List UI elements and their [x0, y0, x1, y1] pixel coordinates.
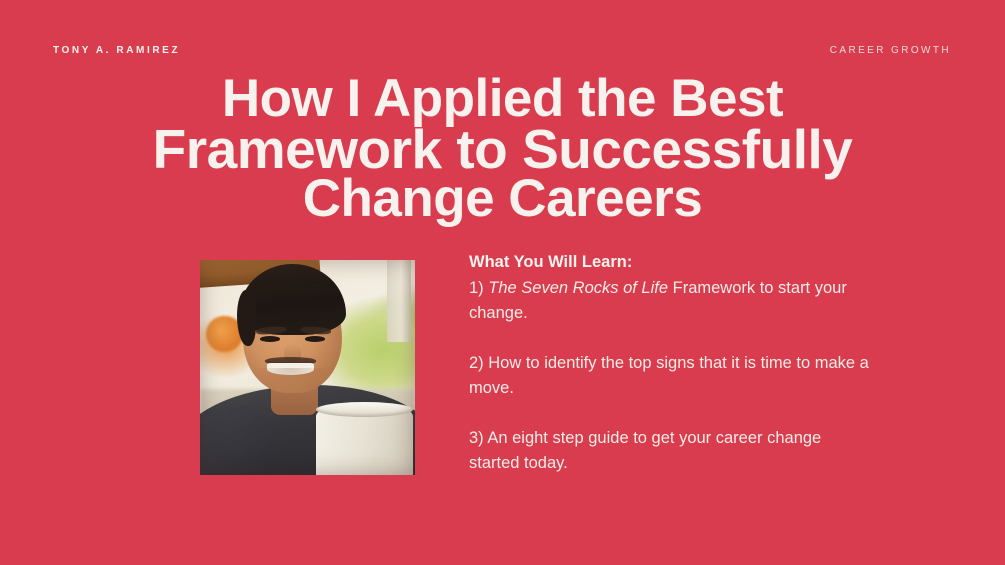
- author-label: TONY A. RAMIREZ: [53, 45, 180, 57]
- copy-spacer-1: [469, 327, 869, 351]
- photo-eye-right: [305, 336, 324, 342]
- slide-canvas: TONY A. RAMIREZ CAREER GROWTH How I Appl…: [0, 0, 1005, 565]
- photo-mug-rim: [316, 402, 413, 417]
- photo-chin-shadow: [252, 368, 329, 394]
- copy-spacer-2: [469, 402, 869, 426]
- photo-shoulder: [200, 406, 273, 475]
- title-line-2: Framework to Successfully: [80, 124, 925, 174]
- page-title: How I Applied the Best Framework to Succ…: [0, 74, 1005, 224]
- photo-image: [200, 260, 415, 475]
- learning-item-1: 1) The Seven Rocks of Life Framework to …: [469, 276, 869, 327]
- photo-eye-left: [260, 336, 279, 342]
- learning-points: What You Will Learn: 1) The Seven Rocks …: [469, 250, 869, 477]
- learning-item-2: 2) How to identify the top signs that it…: [469, 351, 869, 402]
- speaker-photo: [200, 260, 415, 475]
- item-1-prefix: 1): [469, 279, 488, 297]
- category-label: CAREER GROWTH: [830, 45, 951, 57]
- item-1-title: The Seven Rocks of Life: [488, 279, 668, 297]
- photo-hair-side: [237, 290, 256, 346]
- learning-heading: What You Will Learn:: [469, 250, 869, 276]
- learning-item-3: 3) An eight step guide to get your caree…: [469, 426, 869, 477]
- photo-post: [387, 260, 411, 342]
- title-line-1: How I Applied the Best: [80, 74, 925, 124]
- title-line-3: Change Careers: [80, 174, 925, 224]
- photo-mug: [316, 411, 413, 476]
